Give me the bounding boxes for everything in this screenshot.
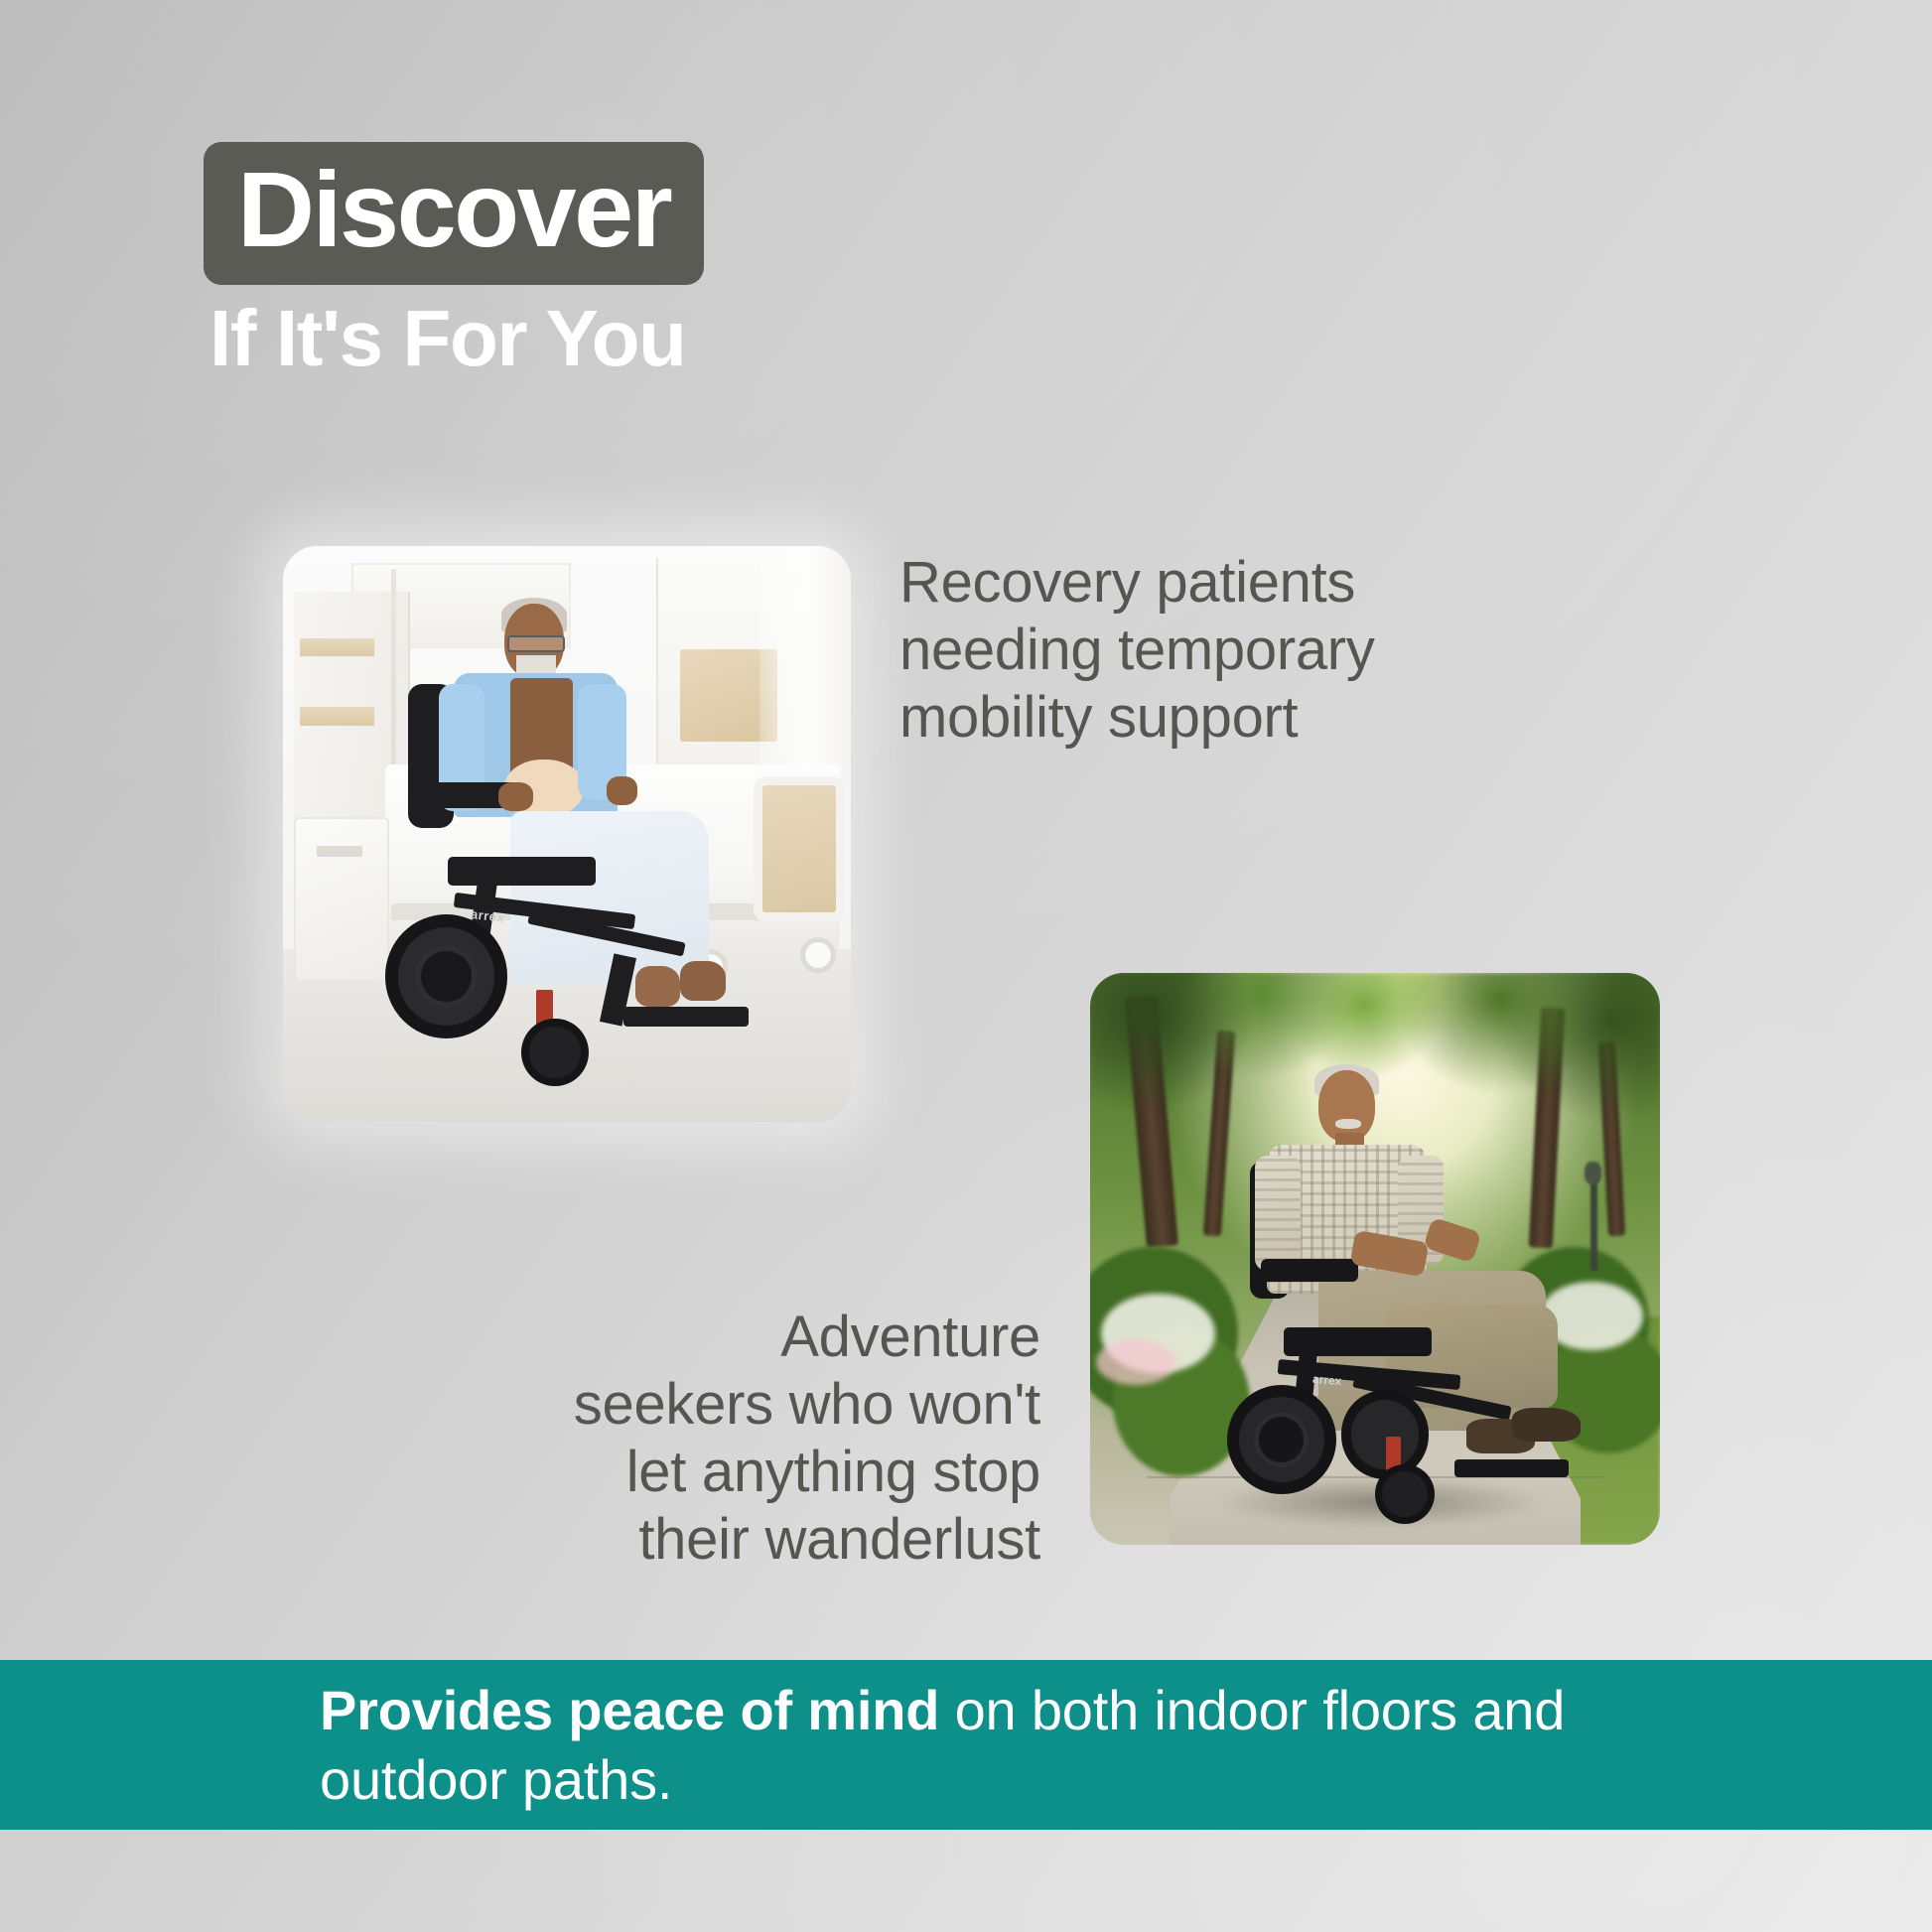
feature-caption-adventure: Adventure seekers who won't let anything… — [445, 1304, 1040, 1573]
park-path-scene: arrex — [1090, 973, 1660, 1545]
wheelchair-rear-wheel — [385, 914, 507, 1038]
patient-foot — [635, 966, 681, 1007]
hospital-shelf — [300, 638, 373, 657]
hospital-bed-rail — [754, 776, 845, 921]
wheelchair-armrest — [1261, 1259, 1358, 1282]
rider-left-sleeve — [1255, 1156, 1301, 1270]
headline-badge: Discover — [204, 142, 704, 285]
hospital-room-scene: arrex — [283, 546, 851, 1122]
headline-subtitle: If It's For You — [209, 299, 704, 378]
hospital-nightstand-drawer — [317, 846, 362, 858]
feature-caption-recovery: Recovery patients needing temporary mobi… — [899, 549, 1515, 752]
rider-shoe — [1512, 1408, 1581, 1443]
wheelchair-brand-mark: arrex — [1311, 1372, 1341, 1389]
wheelchair-front-caster — [521, 1019, 588, 1086]
feature-photo-recovery: arrex — [283, 546, 851, 1122]
hospital-shelf — [300, 707, 373, 726]
rider-head — [1318, 1070, 1375, 1142]
hospital-nightstand — [294, 817, 389, 982]
wheelchair-footplate — [623, 1007, 749, 1027]
park-lamp-head — [1585, 1162, 1601, 1184]
park-lamp-post — [1590, 1178, 1597, 1270]
headline-badge-text: Discover — [237, 156, 670, 263]
footer-banner: Provides peace of mind on both indoor fl… — [0, 1660, 1932, 1830]
patient-glasses — [507, 635, 565, 652]
footer-banner-bold-text: Provides peace of mind — [320, 1679, 939, 1741]
wheelchair-footplate — [1454, 1459, 1569, 1477]
park-flowers — [1096, 1339, 1175, 1385]
wheelchair-rear-wheel — [1227, 1385, 1336, 1494]
hospital-bed-caster — [800, 937, 836, 973]
rider-mustache — [1335, 1119, 1361, 1129]
feature-photo-adventure: arrex — [1090, 973, 1660, 1545]
patient-foot — [680, 961, 726, 1002]
wheelchair-seat — [448, 857, 596, 886]
patient-left-hand — [498, 782, 532, 811]
wheelchair-front-caster — [1375, 1464, 1435, 1524]
footer-banner-text: Provides peace of mind on both indoor fl… — [0, 1676, 1932, 1814]
headline-block: Discover If It's For You — [204, 142, 704, 378]
patient-trousers — [510, 811, 709, 984]
promo-poster: Discover If It's For You — [0, 0, 1932, 1932]
patient-right-hand — [607, 776, 637, 805]
